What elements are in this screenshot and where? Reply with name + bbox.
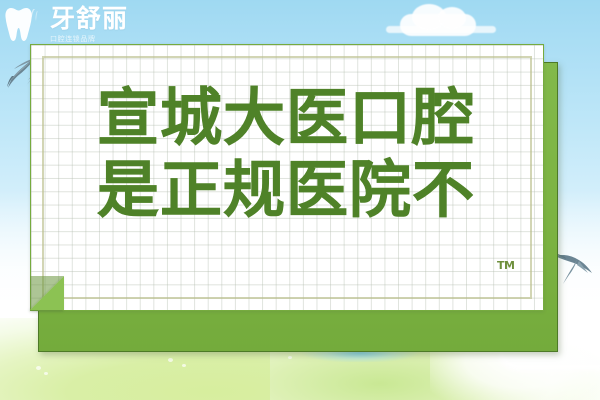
grass-speck	[182, 364, 186, 367]
brand-subtitle: 口腔连锁品牌	[50, 34, 128, 45]
grass-speck	[44, 372, 48, 375]
tooth-icon	[4, 5, 44, 43]
swallow-bird-icon	[552, 248, 594, 286]
grass-speck	[288, 356, 292, 359]
grass-speck	[36, 366, 41, 370]
folded-corner-icon	[30, 276, 64, 310]
headline-text: 宣城大医口腔 是正规医院不	[30, 82, 542, 226]
brand-text-block: 牙舒丽 口腔连锁品牌	[50, 4, 128, 45]
brand-name: 牙舒丽	[50, 6, 128, 31]
grass-speck	[168, 358, 173, 362]
banner-canvas: 宣城大医口腔 是正规医院不 TM 牙舒丽 口腔连锁品牌	[0, 0, 600, 400]
brand-logo: 牙舒丽 口腔连锁品牌	[4, 2, 154, 46]
headline-line-1: 宣城大医口腔	[30, 82, 542, 154]
cloud-icon	[438, 7, 466, 29]
trademark-mark: TM	[497, 259, 514, 272]
headline-line-2: 是正规医院不	[30, 154, 542, 226]
